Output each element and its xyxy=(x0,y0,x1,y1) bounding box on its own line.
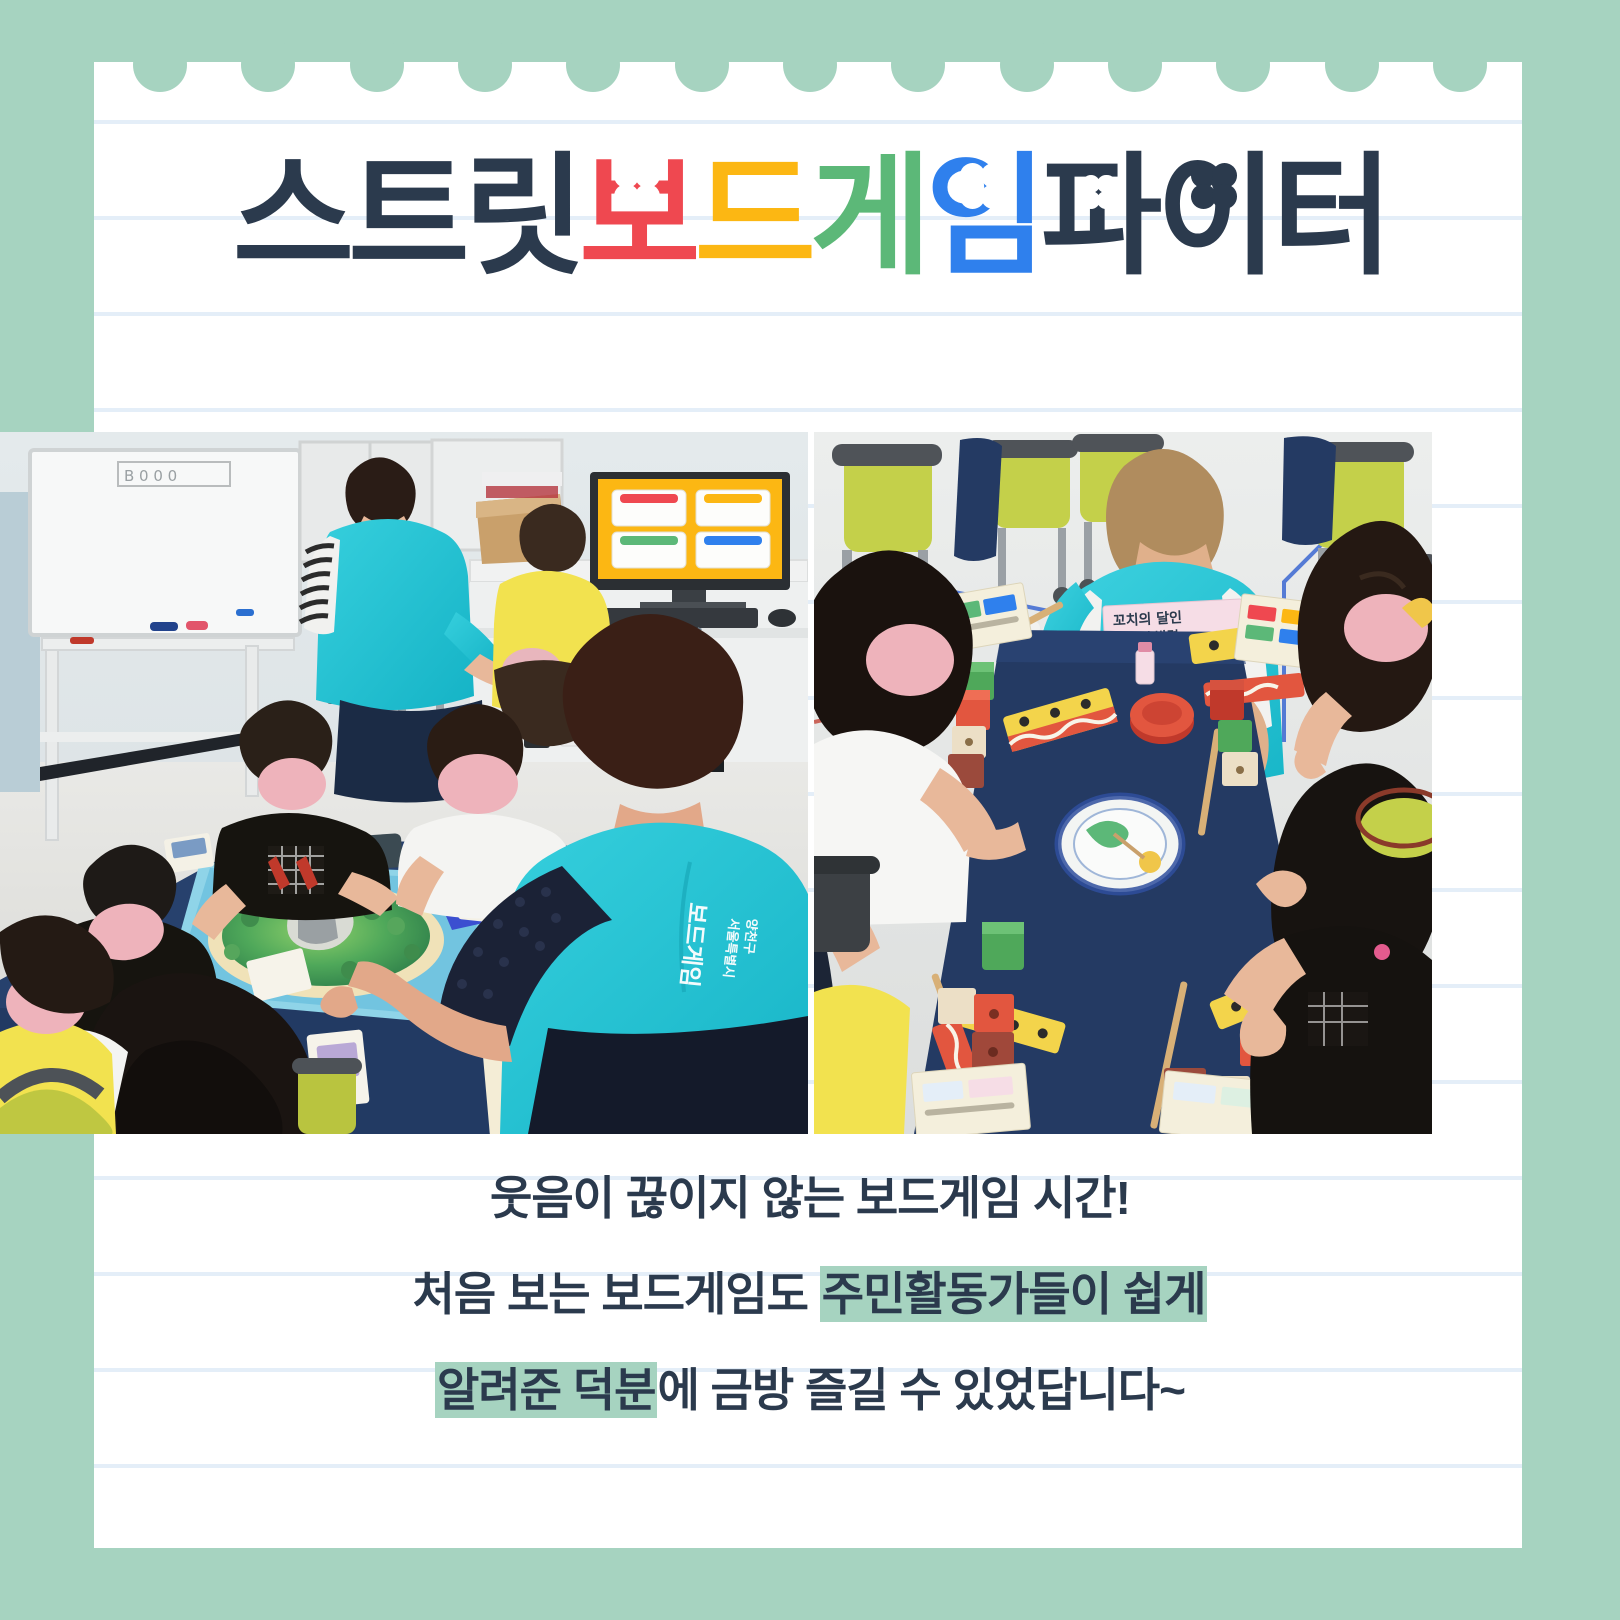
spiral-ring-stem xyxy=(255,0,281,58)
title-syllable-8: 이 xyxy=(1156,140,1271,293)
rule-line xyxy=(94,120,1522,124)
photo-right: 꼬치의 달인 ★ / 순발력 ALL xyxy=(814,432,1432,1134)
title-text: 스트릿보드게임파이터 xyxy=(233,140,1388,293)
caption-line-3: 알려준 덕분에 금방 즐길 수 있었답니다~ xyxy=(0,1342,1620,1438)
title-syllable-9: 터 xyxy=(1272,140,1387,293)
photo-strip: B 0 0 0 xyxy=(0,432,1432,1134)
flower-icon xyxy=(614,163,660,209)
spiral-ring-stem xyxy=(905,0,931,58)
caption-line-1: 웃음이 끊이지 않는 보드게임 시간! xyxy=(0,1150,1620,1246)
spiral-ring-stem xyxy=(1014,0,1040,58)
spiral-ring-stem xyxy=(364,0,390,58)
title-syllable-3: 보 xyxy=(579,140,694,293)
rule-line xyxy=(94,312,1522,316)
spiral-ring-stem xyxy=(689,0,715,58)
photo-right-illustration: 꼬치의 달인 ★ / 순발력 ALL xyxy=(814,432,1432,1134)
spiral-ring-stem xyxy=(1339,0,1365,58)
spiral-ring-stem xyxy=(1447,0,1473,58)
photo-left-illustration: B 0 0 0 xyxy=(0,432,808,1134)
title-syllable-1: 트 xyxy=(348,140,463,293)
flower-icon xyxy=(1191,163,1237,209)
title-syllable-2: 릿 xyxy=(464,140,579,293)
spiral-ring-stem xyxy=(797,0,823,58)
svg-text:B 0 0 0: B 0 0 0 xyxy=(124,467,177,485)
flower-icon xyxy=(960,163,1006,209)
caption-line-3-highlight: 알려준 덕분 xyxy=(435,1362,657,1418)
title-syllable-4: 드 xyxy=(695,140,810,293)
title-syllable-6: 임 xyxy=(925,140,1040,293)
title-syllable-5: 게 xyxy=(810,140,925,293)
spiral-ring-stem xyxy=(147,0,173,58)
caption-line-3-plain: 에 금방 즐길 수 있었답니다~ xyxy=(657,1364,1185,1416)
spiral-ring-stem xyxy=(472,0,498,58)
spiral-ring-stem xyxy=(580,0,606,58)
photo-left: B 0 0 0 xyxy=(0,432,808,1134)
rule-line xyxy=(94,1464,1522,1468)
title-syllable-0: 스 xyxy=(233,140,348,293)
caption-line-2-plain: 처음 보는 보드게임도 xyxy=(413,1268,820,1320)
rule-line xyxy=(94,408,1522,412)
caption-line-2-highlight: 주민활동가들이 쉽게 xyxy=(820,1266,1208,1322)
spiral-ring-stem xyxy=(1122,0,1148,58)
page-title: 스트릿보드게임파이터 xyxy=(0,140,1620,293)
spiral-ring-stem xyxy=(1230,0,1256,58)
caption-line-2: 처음 보는 보드게임도 주민활동가들이 쉽게 xyxy=(0,1246,1620,1342)
flower-icon xyxy=(1082,175,1116,209)
caption-block: 웃음이 끊이지 않는 보드게임 시간! 처음 보는 보드게임도 주민활동가들이 … xyxy=(0,1150,1620,1438)
title-syllable-7: 파 xyxy=(1041,140,1156,293)
